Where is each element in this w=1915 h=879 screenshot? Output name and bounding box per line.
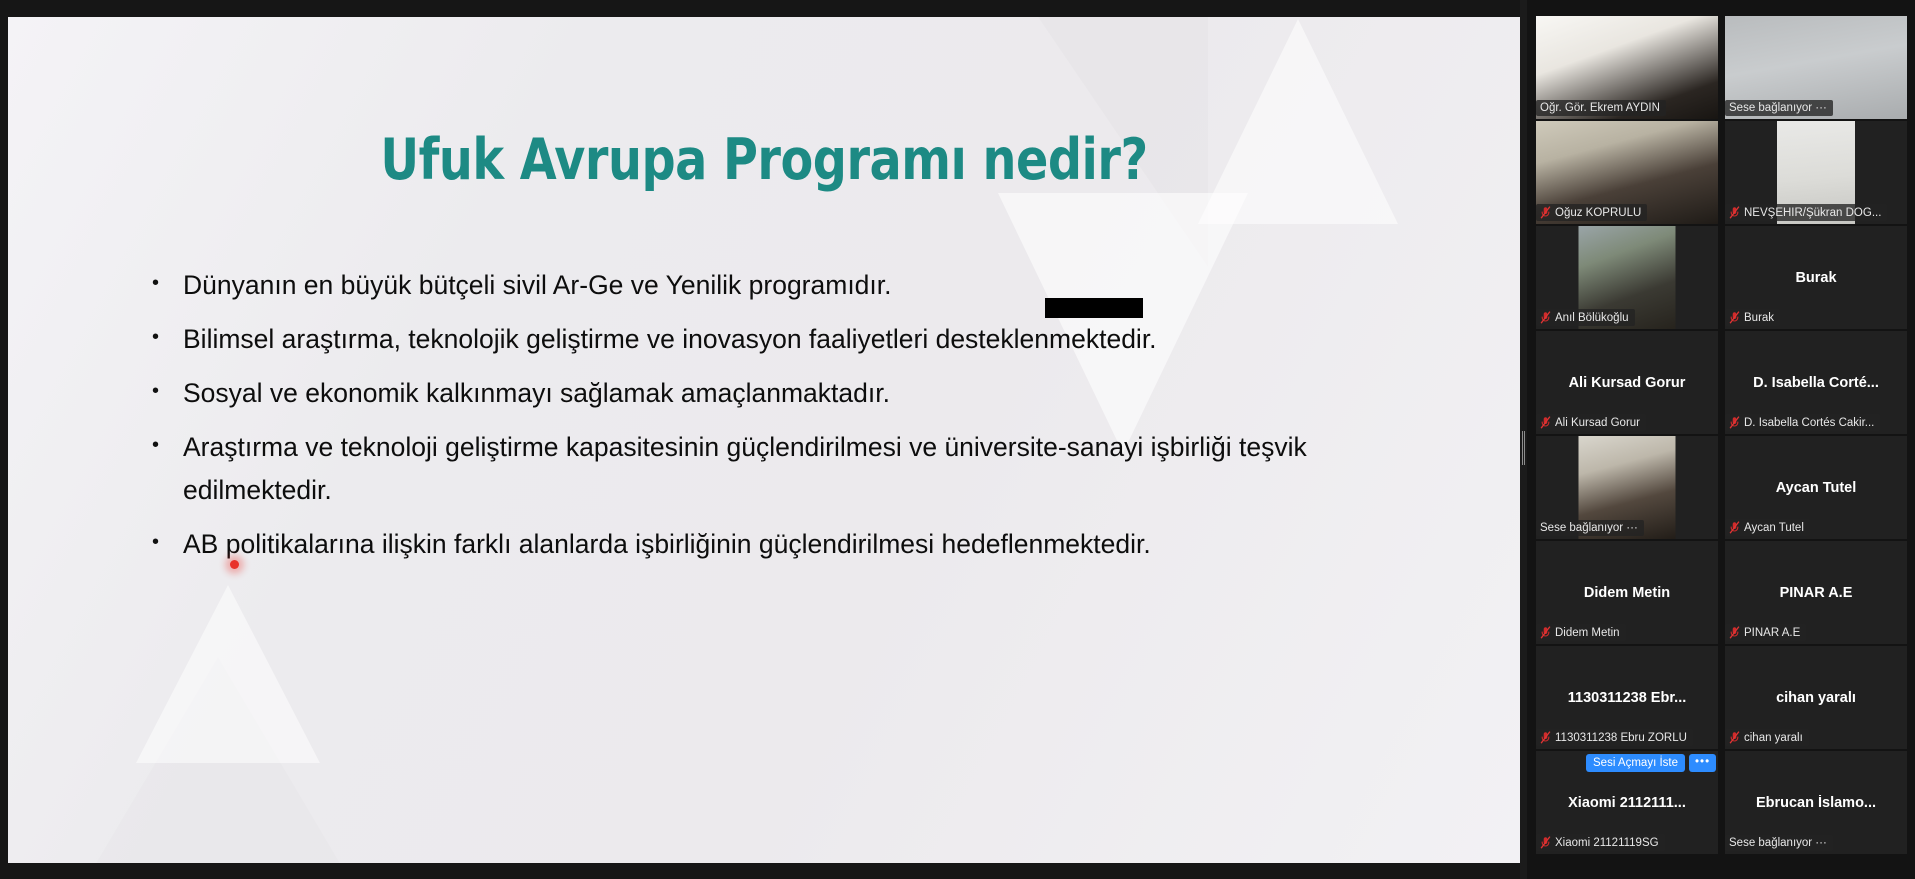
participant-name-label: NEVŞEHİR/Şükran DOĞ... xyxy=(1744,207,1881,219)
participant-tile[interactable]: Xiaomi 2112111...Sesi Açmayı İste•••Xiao… xyxy=(1536,751,1718,854)
participant-tile[interactable]: D. Isabella Corté...D. Isabella Cortés C… xyxy=(1725,331,1907,434)
bullet-marker-icon: • xyxy=(152,523,183,562)
participant-name-label: Ali Kursad Gorur xyxy=(1555,417,1640,429)
participant-name-label: Burak xyxy=(1744,312,1774,324)
microphone-muted-icon xyxy=(1540,206,1551,219)
microphone-muted-icon xyxy=(1540,626,1551,639)
participant-display-name: cihan yaralı xyxy=(1725,690,1907,706)
participant-name-label: Xiaomi 21121119SG xyxy=(1555,837,1659,849)
participant-name-bar: Anıl Bölükoğlu xyxy=(1536,309,1635,326)
list-item: • AB politikalarına ilişkin farklı alanl… xyxy=(152,523,1442,566)
meeting-screen-share-window: Ufuk Avrupa Programı nedir? • Dünyanın e… xyxy=(0,0,1915,879)
participant-name-bar: Didem Metin xyxy=(1536,624,1626,641)
participant-tile[interactable]: cihan yaralıcihan yaralı xyxy=(1725,646,1907,749)
participant-name-label: Oğuz KÖPRÜLÜ xyxy=(1555,207,1641,219)
bullet-marker-icon: • xyxy=(152,426,183,465)
participant-display-name: Didem Metin xyxy=(1536,585,1718,601)
microphone-muted-icon xyxy=(1540,311,1551,324)
participant-tile[interactable]: Ebrucan İslamo...Sese bağlanıyor ··· xyxy=(1725,751,1907,854)
participant-name-label: Aycan Tutel xyxy=(1744,522,1804,534)
ask-to-unmute-button[interactable]: Sesi Açmayı İste xyxy=(1586,754,1685,772)
participant-display-name: Burak xyxy=(1725,270,1907,286)
participant-name-bar: Sese bağlanıyor ··· xyxy=(1725,835,1833,851)
microphone-muted-icon xyxy=(1540,836,1551,849)
participant-name-bar: PINAR A.E xyxy=(1725,624,1806,641)
participant-display-name: Ali Kursad Gorur xyxy=(1536,375,1718,391)
bullet-text: Araştırma ve teknoloji geliştirme kapasi… xyxy=(183,426,1442,512)
microphone-muted-icon xyxy=(1729,731,1740,744)
redaction-box xyxy=(1045,298,1143,318)
laser-pointer-dot xyxy=(230,560,239,569)
participant-display-name: PINAR A.E xyxy=(1725,585,1907,601)
list-item: • Dünyanın en büyük bütçeli sivil Ar-Ge … xyxy=(152,264,1442,307)
participant-name-label: Öğr. Gör. Ekrem AYDIN xyxy=(1540,102,1660,114)
participant-name-bar: cihan yaralı xyxy=(1725,729,1809,746)
microphone-muted-icon xyxy=(1540,416,1551,429)
slide-title: Ufuk Avrupa Programı nedir? xyxy=(61,127,1467,193)
ask-to-unmute-controls: Sesi Açmayı İste••• xyxy=(1586,754,1716,772)
participant-video-panel[interactable]: Öğr. Gör. Ekrem AYDINSese bağlanıyor ···… xyxy=(1527,0,1915,879)
participant-tile[interactable]: Öğr. Gör. Ekrem AYDIN xyxy=(1536,16,1718,119)
participant-display-name: Xiaomi 2112111... xyxy=(1536,795,1718,811)
participant-tile-grid: Öğr. Gör. Ekrem AYDINSese bağlanıyor ···… xyxy=(1536,16,1907,854)
participant-name-label: Didem Metin xyxy=(1555,627,1620,639)
participant-name-label: Sese bağlanıyor ··· xyxy=(1729,102,1827,114)
participant-name-label: Sese bağlanıyor ··· xyxy=(1540,522,1638,534)
microphone-muted-icon xyxy=(1540,731,1551,744)
bullet-text: Bilimsel araştırma, teknolojik geliştirm… xyxy=(183,318,1442,361)
participant-name-bar: Ali Kursad Gorur xyxy=(1536,414,1646,431)
microphone-muted-icon xyxy=(1729,311,1740,324)
list-item: • Araştırma ve teknoloji geliştirme kapa… xyxy=(152,426,1442,512)
bullet-marker-icon: • xyxy=(152,318,183,357)
panel-resize-handle-icon[interactable] xyxy=(1521,431,1526,465)
participant-name-label: Anıl Bölükoğlu xyxy=(1555,312,1629,324)
bullet-marker-icon: • xyxy=(152,372,183,411)
participant-tile[interactable]: 1130311238 Ebr...1130311238 Ebru ZORLU xyxy=(1536,646,1718,749)
participant-name-bar: Sese bağlanıyor ··· xyxy=(1725,100,1833,116)
participant-name-label: cihan yaralı xyxy=(1744,732,1803,744)
slide-bullet-list: • Dünyanın en büyük bütçeli sivil Ar-Ge … xyxy=(152,264,1442,577)
participant-display-name: 1130311238 Ebr... xyxy=(1536,690,1718,706)
bullet-text: AB politikalarına ilişkin farklı alanlar… xyxy=(183,523,1442,566)
participant-tile[interactable]: Aycan TutelAycan Tutel xyxy=(1725,436,1907,539)
participant-name-bar: Öğr. Gör. Ekrem AYDIN xyxy=(1536,100,1666,116)
participant-name-bar: Sese bağlanıyor ··· xyxy=(1536,520,1644,536)
participant-tile[interactable]: NEVŞEHİR/Şükran DOĞ... xyxy=(1725,121,1907,224)
shared-screen-area[interactable]: Ufuk Avrupa Programı nedir? • Dünyanın e… xyxy=(0,0,1527,879)
participant-tile[interactable]: Ali Kursad GorurAli Kursad Gorur xyxy=(1536,331,1718,434)
list-item: • Sosyal ve ekonomik kalkınmayı sağlamak… xyxy=(152,372,1442,415)
participant-name-bar: Burak xyxy=(1725,309,1780,326)
participant-tile[interactable]: Sese bağlanıyor ··· xyxy=(1536,436,1718,539)
participant-display-name: Ebrucan İslamo... xyxy=(1725,795,1907,811)
microphone-muted-icon xyxy=(1729,206,1740,219)
participant-tile[interactable]: Sese bağlanıyor ··· xyxy=(1725,16,1907,119)
panel-divider[interactable] xyxy=(1520,0,1527,879)
participant-name-bar: NEVŞEHİR/Şükran DOĞ... xyxy=(1725,204,1887,221)
microphone-muted-icon xyxy=(1729,521,1740,534)
participant-name-label: PINAR A.E xyxy=(1744,627,1800,639)
participant-tile[interactable]: Oğuz KÖPRÜLÜ xyxy=(1536,121,1718,224)
participant-name-bar: 1130311238 Ebru ZORLU xyxy=(1536,729,1693,746)
microphone-muted-icon xyxy=(1729,416,1740,429)
participant-name-bar: Aycan Tutel xyxy=(1725,519,1810,536)
presentation-slide: Ufuk Avrupa Programı nedir? • Dünyanın e… xyxy=(8,17,1520,863)
participant-tile[interactable]: BurakBurak xyxy=(1725,226,1907,329)
participant-name-label: 1130311238 Ebru ZORLU xyxy=(1555,732,1687,744)
bullet-text: Sosyal ve ekonomik kalkınmayı sağlamak a… xyxy=(183,372,1442,415)
participant-display-name: D. Isabella Corté... xyxy=(1725,375,1907,391)
participant-display-name: Aycan Tutel xyxy=(1725,480,1907,496)
participant-tile[interactable]: PINAR A.EPINAR A.E xyxy=(1725,541,1907,644)
list-item: • Bilimsel araştırma, teknolojik gelişti… xyxy=(152,318,1442,361)
participant-name-bar: D. Isabella Cortés Cakir... xyxy=(1725,414,1880,431)
background-triangle-bottom-left xyxy=(136,585,320,763)
bullet-marker-icon: • xyxy=(152,264,183,303)
participant-tile[interactable]: Didem MetinDidem Metin xyxy=(1536,541,1718,644)
microphone-muted-icon xyxy=(1729,626,1740,639)
participant-name-bar: Oğuz KÖPRÜLÜ xyxy=(1536,204,1647,221)
participant-tile[interactable]: Anıl Bölükoğlu xyxy=(1536,226,1718,329)
more-options-icon[interactable]: ••• xyxy=(1689,754,1716,772)
participant-name-bar: Xiaomi 21121119SG xyxy=(1536,834,1665,851)
bullet-text: Dünyanın en büyük bütçeli sivil Ar-Ge ve… xyxy=(183,264,1442,307)
participant-name-label: D. Isabella Cortés Cakir... xyxy=(1744,417,1874,429)
participant-name-label: Sese bağlanıyor ··· xyxy=(1729,837,1827,849)
